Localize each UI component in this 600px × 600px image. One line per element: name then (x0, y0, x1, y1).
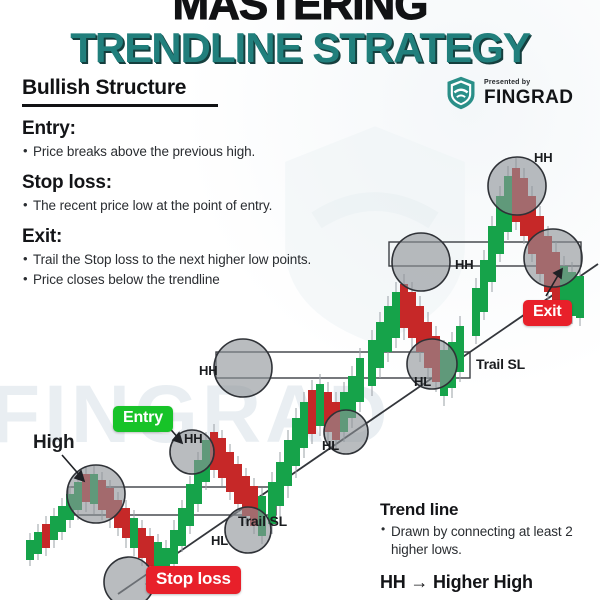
infographic-root: FINGRAD (0, 0, 600, 600)
chart-label-hh-2: HH (199, 363, 217, 378)
chart-label-trail-sl-1: Trail SL (238, 513, 287, 529)
page-title: Bullish Structure (22, 76, 186, 100)
trend-line-bullet-0: Drawn by connecting at least 2 higher lo… (380, 523, 590, 558)
section-heading-stop-loss: Stop loss: (22, 172, 382, 194)
chart-label-hh-3: HH (455, 257, 473, 272)
section-bullet-entry-0: Price breaks above the previous high. (22, 143, 382, 161)
chart-label-hl-3: HL (414, 374, 431, 389)
chart-label-high: High (33, 432, 74, 454)
section-heading-exit: Exit: (22, 226, 382, 248)
headline-line2: TRENDLINE STRATEGY (0, 28, 600, 68)
stop-loss-badge: Stop loss (146, 566, 241, 594)
section-bullet-stop-loss-0: The recent price low at the point of ent… (22, 197, 382, 215)
strategy-rules: Entry: Price breaks above the previous h… (22, 118, 382, 289)
chart-label-trail-sl-2: Trail SL (476, 356, 525, 372)
chart-label-hl-1: HL (211, 533, 228, 548)
trend-line-heading: Trend line (380, 500, 590, 520)
logo-brand-name: FINGRAD (484, 88, 573, 107)
brand-logo: Presented by FINGRAD (446, 76, 573, 110)
headline: MASTERING TRENDLINE STRATEGY (0, 0, 600, 68)
chart-label-hl-2: HL (322, 438, 339, 453)
headline-line1: MASTERING (0, 0, 600, 26)
exit-badge: Exit (523, 300, 572, 326)
entry-badge: Entry (113, 406, 173, 432)
chart-label-hh-1: HH (184, 431, 202, 446)
chart-label-hh-4: HH (534, 150, 552, 165)
section-bullet-exit-1: Price closes below the trendline (22, 271, 382, 289)
legend-higher-high: HH → Higher High (380, 572, 533, 593)
title-underline (22, 104, 218, 107)
shield-icon (446, 76, 476, 110)
section-heading-entry: Entry: (22, 118, 382, 140)
trend-line-note: Trend line Drawn by connecting at least … (380, 500, 590, 558)
logo-presented-by: Presented by (484, 79, 573, 86)
section-bullet-exit-0: Trail the Stop loss to the next higher l… (22, 251, 382, 269)
